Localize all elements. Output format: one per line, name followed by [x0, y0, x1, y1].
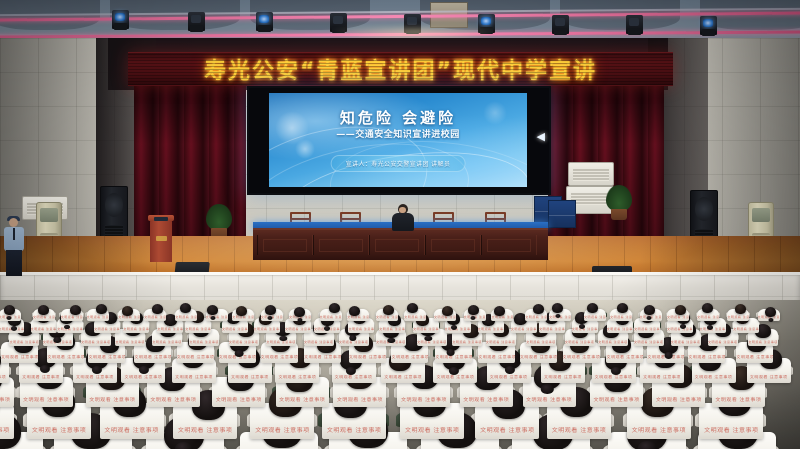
seat-cover-text: 文明观看 注意事项 — [667, 316, 689, 320]
audience-member-head — [294, 307, 305, 317]
seat-cover-text: 文明观看 注意事项 — [118, 316, 140, 320]
seat-cover-text: 文明观看 注意事项 — [634, 327, 660, 331]
seat-cover-text: 文明观看 注意事项 — [115, 340, 145, 344]
seat-cover-text: 文明观看 注意事项 — [590, 396, 643, 402]
audience-member-head — [265, 305, 276, 315]
head-table — [253, 228, 548, 260]
seat-cover-text: 文明观看 注意事项 — [525, 316, 547, 320]
stage-light — [188, 12, 205, 31]
seat-cover-text: 文明观看 注意事项 — [712, 396, 765, 402]
seat-cover-text: 文明观看 注意事项 — [433, 374, 477, 379]
seat-cover-text: 文明观看 注意事项 — [610, 316, 632, 320]
audience-area: 文明观看 注意事项文明观看 注意事项文明观看 注意事项文明观看 注意事项文明观看… — [0, 300, 800, 449]
seat-cover-text: 文明观看 注意事项 — [460, 396, 513, 402]
seat-cover-text: 文明观看 注意事项 — [189, 340, 219, 344]
stage-light — [112, 10, 129, 29]
seat-cover-text: 文明观看 注意事项 — [81, 340, 111, 344]
seat-cover-text: 文明观看 注意事项 — [222, 327, 248, 331]
seat-cover-text: 文明观看 注意事项 — [19, 374, 63, 379]
seat-cover-text: 文明观看 注意事项 — [404, 316, 426, 320]
audience-member-head — [407, 303, 418, 313]
seat-cover-text: 文明观看 注意事项 — [652, 396, 705, 402]
seated-presenter — [392, 204, 414, 230]
seat-cover-text: 文明观看 注意事项 — [699, 425, 763, 433]
seat-cover-text: 文明观看 注意事项 — [100, 425, 164, 433]
seat-cover-text: 文明观看 注意事项 — [413, 327, 439, 331]
audience-member-head — [70, 305, 81, 315]
seat-cover-text: 文明观看 注意事项 — [88, 354, 125, 359]
seat-cover-text: 文明观看 注意事项 — [9, 340, 39, 344]
seat-cover-text: 文明观看 注意事项 — [511, 327, 537, 331]
seat-cover-text: 文明观看 注意事项 — [185, 327, 211, 331]
seat-cover-text: 文明观看 注意事项 — [584, 316, 606, 320]
seat-cover-text: 文明观看 注意事项 — [123, 327, 149, 331]
audience-member-head — [207, 305, 218, 315]
seat-cover-text: 文明观看 注意事项 — [349, 354, 386, 359]
seat-cover-text: 文明观看 注意事项 — [134, 354, 171, 359]
seat-cover-text: 文明观看 注意事项 — [212, 396, 265, 402]
seat-cover-text: 文明观看 注意事项 — [748, 340, 778, 344]
seat-cover-text: 文明观看 注意事项 — [47, 354, 84, 359]
seat-cover-text: 文明观看 注意事项 — [572, 327, 598, 331]
seat-cover-text: 文明观看 注意事项 — [400, 425, 464, 433]
seat-cover-text: 文明观看 注意事项 — [526, 340, 556, 344]
seat-cover-text: 文明观看 注意事项 — [486, 340, 516, 344]
seat-cover-text: 文明观看 注意事项 — [539, 327, 565, 331]
seat-cover-text: 文明观看 注意事项 — [1, 354, 38, 359]
seat-cover-text: 文明观看 注意事项 — [607, 327, 633, 331]
audience-member-head — [383, 305, 394, 315]
seat-cover-text: 文明观看 注意事项 — [172, 374, 216, 379]
seat-cover-text: 文明观看 注意事项 — [478, 327, 504, 331]
seat-cover-text: 文明观看 注意事项 — [173, 425, 237, 433]
seat-cover-text: 文明观看 注意事项 — [348, 327, 374, 331]
potted-plant-right — [606, 186, 632, 220]
seat-cover-text: 文明观看 注意事项 — [747, 374, 791, 379]
audience-member-head — [180, 303, 191, 313]
seat-cover-text: 文明观看 注意事项 — [333, 396, 386, 402]
seat-cover-text: 文明观看 注意事项 — [0, 374, 9, 379]
seat-cover-text: 文明观看 注意事项 — [304, 354, 341, 359]
slide-title: 知危险 会避险 — [269, 107, 527, 128]
audience-member-head — [533, 304, 544, 314]
lectern — [150, 220, 172, 262]
seat-cover-text: 文明观看 注意事项 — [121, 374, 165, 379]
audience-member-head — [38, 305, 49, 315]
seat-cover-text: 文明观看 注意事项 — [152, 340, 182, 344]
seat-cover-text: 文明观看 注意事项 — [228, 374, 272, 379]
seat-cover-text: 文明观看 注意事项 — [73, 374, 117, 379]
seat-cover-text: 文明观看 注意事项 — [565, 340, 595, 344]
led-banner: 寿光公安“青蓝宣讲团”现代中学宣讲 — [128, 52, 673, 86]
seat-cover-text: 文明观看 注意事项 — [491, 316, 513, 320]
chevron-left-icon: ◀ — [537, 132, 545, 143]
seat-cover-text: 文明观看 注意事项 — [94, 327, 120, 331]
audience-member-head — [152, 304, 163, 314]
stage-light — [700, 16, 717, 35]
seat-cover-text: 文明观看 注意事项 — [86, 396, 139, 402]
seat-cover-text: 文明观看 注意事项 — [640, 374, 684, 379]
seat-cover-text: 文明观看 注意事项 — [31, 327, 57, 331]
seat-cover-text: 文明观看 注意事项 — [0, 396, 14, 402]
audience-member-head — [494, 306, 505, 316]
seat-cover-text: 文明观看 注意事项 — [27, 425, 91, 433]
lectern-emblem — [156, 236, 167, 241]
seat-cover-text: 文明观看 注意事项 — [391, 354, 428, 359]
lectern-monitor — [154, 217, 168, 221]
seat-cover-text: 文明观看 注意事项 — [261, 354, 298, 359]
seat-cover-text: 文明观看 注意事项 — [397, 396, 450, 402]
seat-cover-text: 文明观看 注意事项 — [347, 316, 369, 320]
seat-cover-text: 文明观看 注意事项 — [434, 316, 456, 320]
seat-cover-text: 文明观看 注意事项 — [320, 316, 342, 320]
seat-cover-text: 文明观看 注意事项 — [634, 340, 664, 344]
audience-member-head — [329, 303, 340, 313]
audience-member-head — [644, 305, 655, 315]
seat-cover-text: 文明观看 注意事项 — [33, 316, 55, 320]
audience-member-head — [552, 303, 563, 313]
seat-cover-text: 文明观看 注意事项 — [229, 340, 259, 344]
seat-cover-text: 文明观看 注意事项 — [475, 425, 539, 433]
audience-member-head — [468, 305, 479, 315]
seat-cover-text: 文明观看 注意事项 — [147, 396, 200, 402]
seat-cover-text: 文明观看 注意事项 — [20, 396, 73, 402]
seat-cover-text: 文明观看 注意事项 — [177, 354, 214, 359]
seat-cover-text: 文明观看 注意事项 — [478, 354, 515, 359]
seat-cover-text: 文明观看 注意事项 — [254, 327, 280, 331]
seat-back-cover: 文明观看 注意事项 — [0, 403, 14, 439]
seat-cover-text: 文明观看 注意事项 — [627, 425, 691, 433]
seat-cover-text: 文明观看 注意事项 — [523, 396, 576, 402]
seat-cover-text: 文明观看 注意事项 — [688, 354, 725, 359]
seat-cover-text: 文明观看 注意事项 — [322, 425, 386, 433]
seat-cover-text: 文明观看 注意事项 — [61, 316, 83, 320]
seat-cover-text: 文明观看 注意事项 — [379, 327, 405, 331]
seat-cover-text: 文明观看 注意事项 — [598, 340, 628, 344]
seat-cover-text: 文明观看 注意事项 — [276, 396, 329, 402]
seat-cover-text: 文明观看 注意事项 — [275, 374, 319, 379]
seat-cover-text: 文明观看 注意事项 — [549, 316, 571, 320]
seat-cover-text: 文明观看 注意事项 — [727, 316, 749, 320]
seat-cover-text: 文明观看 注意事项 — [417, 340, 447, 344]
seat-cover-text: 文明观看 注意事项 — [206, 316, 228, 320]
stage-light — [256, 12, 273, 31]
seat-cover-text: 文明观看 注意事项 — [541, 374, 585, 379]
banner-text: 寿光公安“青蓝宣讲团”现代中学宣讲 — [204, 53, 597, 85]
seat-cover-text: 文明观看 注意事项 — [304, 340, 334, 344]
seat-cover-text: 文明观看 注意事项 — [547, 425, 611, 433]
audience-member-head — [349, 306, 360, 316]
seat-cover-text: 文明观看 注意事项 — [232, 316, 254, 320]
seat-cover-text: 文明观看 注意事项 — [708, 340, 738, 344]
audience-member-head — [765, 307, 776, 317]
seat-cover-text: 文明观看 注意事项 — [733, 327, 759, 331]
audience-member-head — [122, 306, 133, 316]
stage-light — [626, 15, 643, 34]
seat-cover-text: 文明观看 注意事项 — [736, 354, 773, 359]
seat-cover-text: 文明观看 注意事项 — [175, 316, 197, 320]
seat-cover-text: 文明观看 注意事项 — [671, 340, 701, 344]
seat-cover-text: 文明观看 注意事项 — [563, 354, 600, 359]
seat-cover-text: 文明观看 注意事项 — [144, 316, 166, 320]
seat-cover-text: 文明观看 注意事项 — [381, 374, 425, 379]
seat-cover-text: 文明观看 注意事项 — [250, 425, 314, 433]
audience-member-head — [442, 306, 453, 316]
slide-subtitle: ——交通安全知识宣讲进校园 — [269, 127, 527, 140]
seat-cover-text: 文明观看 注意事项 — [285, 327, 311, 331]
seat-cover-text: 文明观看 注意事项 — [592, 374, 636, 379]
audience-member-head — [236, 306, 247, 316]
audience-member-head — [4, 305, 15, 315]
audience-member-head — [702, 303, 713, 313]
projection-screen: 知危险 会避险 ——交通安全知识宣讲进校园 宣讲人：寿光公安交警宣讲团 讲解员 — [269, 93, 527, 187]
seat-cover-text: 文明观看 注意事项 — [520, 354, 557, 359]
seat-cover-text: 文明观看 注意事项 — [57, 327, 83, 331]
seat-cover-text: 文明观看 注意事项 — [487, 374, 531, 379]
seat-cover-text: 文明观看 注意事项 — [157, 327, 183, 331]
seat-cover-text: 文明观看 注意事项 — [0, 425, 14, 433]
uniformed-police-officer — [4, 218, 24, 276]
stage-light — [552, 15, 569, 34]
slide-caption: 宣讲人：寿光公安交警宣讲团 讲解员 — [331, 155, 466, 172]
auditorium-photo: 寿光公安“青蓝宣讲团”现代中学宣讲 知危险 会避险 ——交通安全知识宣讲进校园 … — [0, 0, 800, 449]
seat-cover-text: 文明观看 注意事项 — [606, 354, 643, 359]
seat-cover-text: 文明观看 注意事项 — [697, 316, 719, 320]
audience-member-head — [96, 304, 107, 314]
stage-riser-right — [548, 200, 576, 228]
audience-member-head — [617, 303, 628, 313]
seat-cover-text: 文明观看 注意事项 — [376, 316, 398, 320]
seat-cover-text: 文明观看 注意事项 — [87, 316, 109, 320]
wall-air-conditioner-right — [568, 162, 614, 186]
seat-cover-text: 文明观看 注意事项 — [445, 327, 471, 331]
seat-cover-text: 文明观看 注意事项 — [692, 374, 736, 379]
projection-screen-frame: 知危险 会避险 ——交通安全知识宣讲进校园 宣讲人：寿光公安交警宣讲团 讲解员 … — [247, 86, 551, 195]
audience-member-head — [735, 304, 746, 314]
potted-plant-left — [206, 205, 232, 239]
seat-cover-text: 文明观看 注意事项 — [452, 340, 482, 344]
